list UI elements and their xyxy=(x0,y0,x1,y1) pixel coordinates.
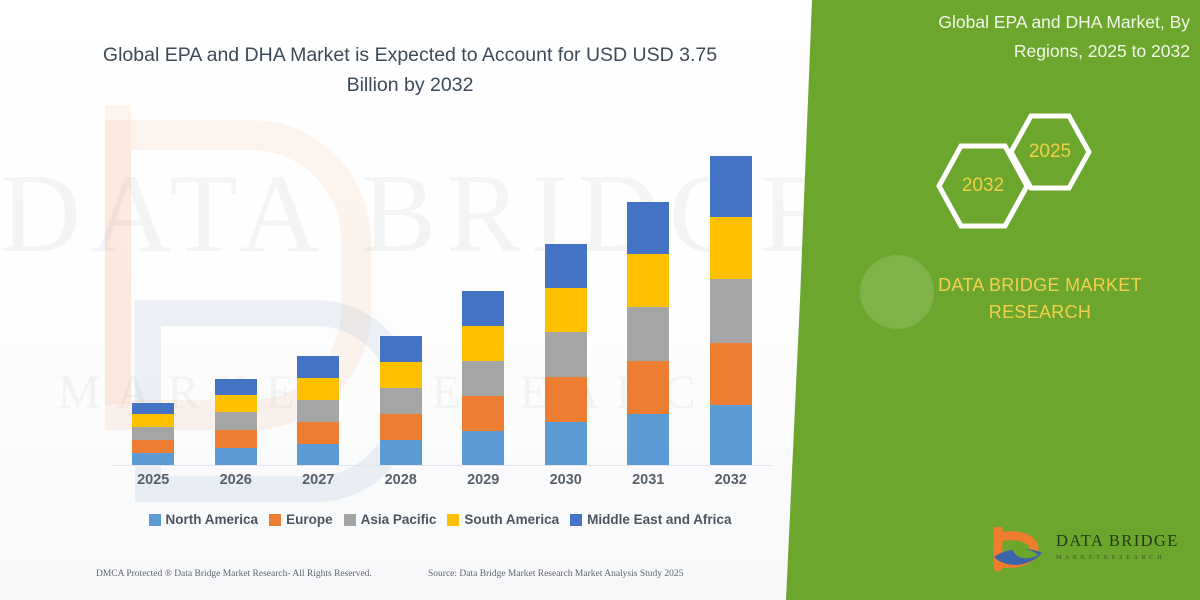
stacked-bar[interactable] xyxy=(297,356,339,466)
bar-segment[interactable] xyxy=(297,400,339,422)
bar-segment[interactable] xyxy=(545,377,587,422)
stacked-bar[interactable] xyxy=(545,244,587,466)
x-axis-tick: 2027 xyxy=(277,472,359,496)
x-axis-tick: 2026 xyxy=(195,472,277,496)
legend-item[interactable]: Europe xyxy=(269,512,333,527)
bar-group xyxy=(112,120,772,466)
bar-segment[interactable] xyxy=(462,396,504,431)
stacked-bar[interactable] xyxy=(462,291,504,466)
legend-item[interactable]: South America xyxy=(447,512,559,527)
data-bridge-logo-text: DATA BRIDGE M A R K E T R E S E A R C H xyxy=(1056,531,1190,561)
legend-swatch xyxy=(149,514,161,526)
chart-legend: North AmericaEuropeAsia PacificSouth Ame… xyxy=(100,512,780,527)
bar-segment[interactable] xyxy=(297,356,339,378)
bar-segment[interactable] xyxy=(710,156,752,217)
bar-segment[interactable] xyxy=(710,279,752,343)
axis-baseline xyxy=(112,465,772,466)
stacked-bar[interactable] xyxy=(132,403,174,466)
x-axis-tick: 2032 xyxy=(690,472,772,496)
hex-badge-2025-label: 2025 xyxy=(1029,141,1071,163)
chart-title: Global EPA and DHA Market is Expected to… xyxy=(80,40,740,100)
legend-item[interactable]: North America xyxy=(149,512,259,527)
bar-segment[interactable] xyxy=(462,291,504,326)
bar-segment[interactable] xyxy=(132,403,174,414)
legend-swatch xyxy=(344,514,356,526)
hex-badge-2032-label: 2032 xyxy=(962,175,1004,197)
bar-segment[interactable] xyxy=(297,422,339,444)
bar-segment[interactable] xyxy=(132,427,174,440)
logo-title: DATA BRIDGE xyxy=(1056,531,1190,551)
bar-segment[interactable] xyxy=(297,378,339,400)
footer-source: Source: Data Bridge Market Research Mark… xyxy=(428,569,683,579)
logo-subtitle: M A R K E T R E S E A R C H xyxy=(1056,554,1190,561)
x-axis-tick-labels: 20252026202720282029203020312032 xyxy=(112,472,772,496)
legend-item[interactable]: Middle East and Africa xyxy=(570,512,731,527)
legend-swatch xyxy=(570,514,582,526)
bar-segment[interactable] xyxy=(380,414,422,440)
x-axis-tick: 2025 xyxy=(112,472,194,496)
legend-label: Europe xyxy=(286,512,333,527)
stacked-bar[interactable] xyxy=(380,336,422,466)
stacked-bar[interactable] xyxy=(627,202,669,466)
bar-segment[interactable] xyxy=(297,444,339,466)
legend-swatch xyxy=(269,514,281,526)
legend-swatch xyxy=(447,514,459,526)
legend-label: Middle East and Africa xyxy=(587,512,731,527)
bar-segment[interactable] xyxy=(462,326,504,361)
legend-label: Asia Pacific xyxy=(361,512,437,527)
hex-badge-2025: 2025 xyxy=(1007,112,1093,192)
infographic-root: DATA BRIDGE MARKET RESEARCH Global EPA a… xyxy=(0,0,1200,600)
bar-segment[interactable] xyxy=(545,244,587,288)
bar-column xyxy=(195,120,277,466)
x-axis-tick: 2028 xyxy=(360,472,442,496)
x-axis-tick: 2030 xyxy=(525,472,607,496)
bar-segment[interactable] xyxy=(380,336,422,362)
bar-column xyxy=(360,120,442,466)
hexagon-badges: 2032 2025 xyxy=(925,112,1105,232)
bar-segment[interactable] xyxy=(215,379,257,395)
bar-segment[interactable] xyxy=(545,288,587,332)
bar-segment[interactable] xyxy=(545,422,587,466)
bar-segment[interactable] xyxy=(215,395,257,412)
bar-segment[interactable] xyxy=(627,361,669,414)
bar-segment[interactable] xyxy=(380,388,422,414)
footer-copyright: DMCA Protected ® Data Bridge Market Rese… xyxy=(96,569,372,579)
chart-panel: DATA BRIDGE MARKET RESEARCH Global EPA a… xyxy=(0,0,820,600)
stacked-bar[interactable] xyxy=(710,156,752,466)
bar-segment[interactable] xyxy=(627,254,669,307)
bar-segment[interactable] xyxy=(215,412,257,430)
stacked-bar[interactable] xyxy=(215,379,257,466)
legend-label: North America xyxy=(166,512,259,527)
bar-segment[interactable] xyxy=(710,405,752,466)
bar-segment[interactable] xyxy=(627,202,669,254)
bar-segment[interactable] xyxy=(132,440,174,453)
bar-column xyxy=(442,120,524,466)
bar-segment[interactable] xyxy=(380,362,422,388)
bar-segment[interactable] xyxy=(545,332,587,377)
bar-column xyxy=(690,120,772,466)
x-axis-tick: 2031 xyxy=(607,472,689,496)
bar-segment[interactable] xyxy=(462,361,504,396)
green-panel-heading: Global EPA and DHA Market, By Regions, 2… xyxy=(878,8,1190,66)
bar-segment[interactable] xyxy=(215,430,257,448)
bar-segment[interactable] xyxy=(627,307,669,361)
bar-segment[interactable] xyxy=(132,414,174,427)
bar-segment[interactable] xyxy=(462,431,504,466)
x-axis-tick: 2029 xyxy=(442,472,524,496)
data-bridge-logo: DATA BRIDGE M A R K E T R E S E A R C H xyxy=(990,525,1190,577)
bar-segment[interactable] xyxy=(380,440,422,466)
bar-segment[interactable] xyxy=(710,217,752,279)
bar-column xyxy=(112,120,194,466)
legend-item[interactable]: Asia Pacific xyxy=(344,512,437,527)
bar-segment[interactable] xyxy=(710,343,752,405)
legend-label: South America xyxy=(464,512,559,527)
chart-plot-area xyxy=(112,120,772,466)
bar-column xyxy=(607,120,689,466)
bar-segment[interactable] xyxy=(215,448,257,466)
bar-column xyxy=(525,120,607,466)
bar-segment[interactable] xyxy=(627,414,669,466)
bar-column xyxy=(277,120,359,466)
brand-name: DATA BRIDGE MARKET RESEARCH xyxy=(890,272,1190,326)
data-bridge-logo-mark-icon xyxy=(990,527,1052,573)
